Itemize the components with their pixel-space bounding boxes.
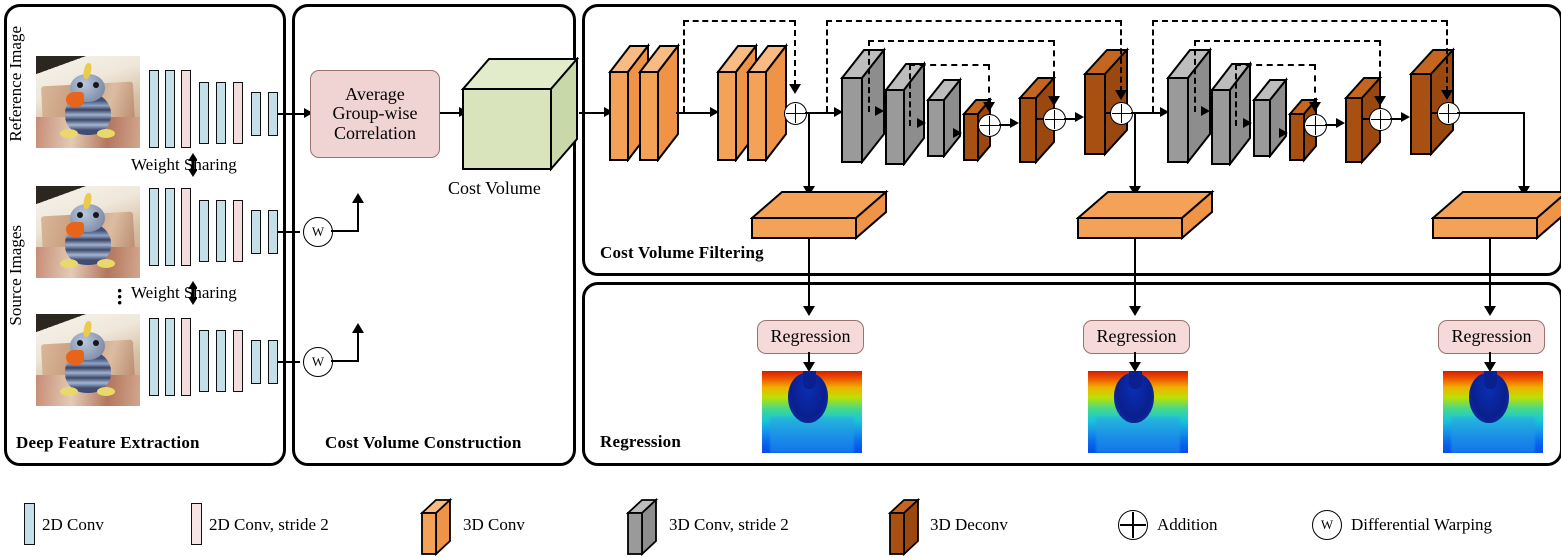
regression-box-3[interactable]: Regression: [1438, 320, 1545, 354]
bar-2d-conv: [149, 70, 159, 148]
regression-box-label: Regression: [771, 327, 851, 346]
output-slab-1: [750, 190, 890, 250]
bar-2d-conv-stride2: [181, 188, 191, 266]
panel-title-regression: Regression: [600, 432, 681, 452]
h1-skip-dashed-v-outer-r: [1120, 20, 1122, 92]
cost-volume-cube: [461, 57, 579, 173]
bar-2d-conv: [199, 82, 209, 144]
h2-arrow-1: [1201, 106, 1210, 116]
bar-2d-conv: [165, 318, 175, 396]
skip-dashed-v-1a: [683, 20, 685, 112]
h2-skip-arrow-outer: [1441, 90, 1453, 100]
correlation-line-1: Average: [333, 85, 418, 104]
panel-title-cost: Cost Volume Construction: [325, 433, 522, 453]
skip-dashed-h-1: [683, 20, 795, 22]
h2-skip-dashed-v-inner-l: [1235, 64, 1237, 126]
warp-arrow-2: [352, 323, 364, 333]
bar-2d-conv: [165, 70, 175, 148]
feature-out-line-ref: [278, 113, 306, 115]
weight-sharing-arrow-2: [187, 281, 197, 305]
skip-dashed-v-1b: [794, 20, 796, 86]
bar-2d-conv: [216, 330, 226, 392]
h2-skip-arrow-inner: [1309, 102, 1321, 112]
cost-volume-caption: Cost Volume: [448, 178, 541, 199]
feature-out-line-src1: [278, 231, 300, 233]
output-slab-3: [1431, 190, 1561, 250]
feature-out-line-srcn: [278, 361, 300, 363]
legend-label-3d-deconv: 3D Deconv: [930, 515, 1008, 535]
bar-2d-conv-stride2: [233, 200, 243, 262]
h1-skip-dashed-v-inner-l: [909, 64, 911, 126]
legend-swatch-addition: [1118, 510, 1148, 540]
slab1-to-regression-line: [808, 238, 810, 310]
legend-label-2d-conv: 2D Conv: [42, 515, 104, 535]
h1-skip-dashed-v-mid-r: [1053, 40, 1055, 98]
warp-line-2a: [331, 360, 359, 362]
h1-arrow-2: [917, 118, 926, 128]
bar-2d-conv: [199, 200, 209, 262]
thumbnail-source-image-n: [36, 314, 140, 406]
h2-skip-dashed-v-outer-l: [1152, 20, 1154, 112]
h2-skip-arrow-mid: [1374, 96, 1386, 106]
warp-line-2b: [357, 333, 359, 362]
h1-skip-dashed-h-inner: [909, 64, 989, 66]
legend-label-3d-conv-stride2: 3D Conv, stride 2: [669, 515, 789, 535]
legend-swatch-2d-conv-stride2: [191, 503, 202, 545]
weight-sharing-label-1: Weight Sharing: [131, 155, 237, 175]
h1-out-down-line: [1134, 112, 1136, 190]
bar-2d-conv: [199, 330, 209, 392]
h2-out-down-line: [1523, 112, 1525, 190]
h2-skip-dashed-h-outer: [1152, 20, 1447, 22]
h1-skip-dashed-v-outer-l: [826, 20, 828, 112]
cube-output-line: [579, 112, 607, 114]
legend-swatch-3d-conv: [420, 497, 460, 557]
average-groupwise-correlation-box[interactable]: Average Group-wise Correlation: [310, 70, 440, 158]
h1-skip-dashed-v-inner-r: [988, 64, 990, 104]
legend-label-2d-conv-stride2: 2D Conv, stride 2: [209, 515, 329, 535]
h2-skip-dashed-h-mid: [1194, 40, 1380, 42]
add1-down-line: [808, 112, 810, 190]
bar-2d-conv: [268, 340, 278, 384]
bar-2d-conv-stride2: [233, 330, 243, 392]
legend-swatch-3d-deconv: [888, 497, 928, 557]
skip-arrow-1: [789, 84, 801, 94]
legend-swatch-2d-conv: [24, 503, 35, 545]
differential-warping-icon-2[interactable]: W: [303, 347, 333, 377]
warping-symbol: W: [312, 224, 324, 240]
addition-icon-h2-1: [1304, 114, 1327, 137]
h2-arrow-2: [1243, 118, 1252, 128]
slab1-to-regression-arrow: [803, 306, 815, 316]
regression-box-2[interactable]: Regression: [1083, 320, 1190, 354]
bar-2d-conv: [268, 92, 278, 136]
output-slab-2: [1076, 190, 1216, 250]
ellipsis-source-images: ···: [116, 288, 123, 306]
h2-skip-dashed-v-outer-r: [1446, 20, 1448, 92]
block-3d-deconv-h1-3: [1083, 44, 1141, 160]
correlation-line-2: Group-wise: [333, 104, 418, 123]
bar-2d-conv: [251, 92, 261, 136]
correlation-line-3: Correlation: [333, 124, 418, 143]
label-reference-image: Reference Image: [6, 26, 26, 142]
h1-skip-arrow-inner: [983, 102, 995, 112]
addition-icon-h1-1: [978, 114, 1001, 137]
slab2-to-regression-line: [1134, 238, 1136, 310]
addition-icon-h1-2: [1043, 108, 1066, 131]
warp-line-1b: [357, 203, 359, 232]
weight-sharing-arrow-1: [187, 153, 197, 177]
slab2-to-regression-arrow: [1129, 306, 1141, 316]
differential-warping-icon-1[interactable]: W: [303, 217, 333, 247]
addition-icon-h1-3: [1110, 102, 1133, 125]
warping-symbol: W: [1321, 517, 1333, 533]
bar-2d-conv: [251, 340, 261, 384]
bar-2d-conv-stride2: [181, 70, 191, 148]
regression-box-label: Regression: [1452, 327, 1532, 346]
h1-skip-dashed-v-mid-l: [868, 40, 870, 112]
h2-out-right-line: [1457, 112, 1525, 114]
legend-label-differential-warping: Differential Warping: [1351, 515, 1492, 535]
bar-2d-conv: [216, 82, 226, 144]
h2-skip-dashed-v-mid-l: [1194, 40, 1196, 112]
warping-symbol: W: [312, 354, 324, 370]
depth-map-1: [762, 371, 862, 453]
bar-2d-conv-stride2: [233, 82, 243, 144]
h1-skip-dashed-h-outer: [826, 20, 1121, 22]
h2-skip-dashed-v-mid-r: [1379, 40, 1381, 98]
panel-regression: [582, 282, 1561, 466]
depth-map-2: [1088, 371, 1188, 453]
h1-skip-arrow-outer: [1115, 90, 1127, 100]
label-source-images: Source Images: [6, 225, 26, 326]
weight-sharing-label-2: Weight Sharing: [131, 283, 237, 303]
addition-icon-h2-2: [1369, 108, 1392, 131]
regression-box-label: Regression: [1097, 327, 1177, 346]
bar-2d-conv-stride2: [181, 318, 191, 396]
bar-2d-conv: [268, 210, 278, 254]
h1-skip-arrow-mid: [1048, 96, 1060, 106]
bar-2d-conv: [149, 318, 159, 396]
legend-swatch-3d-conv-stride2: [626, 497, 666, 557]
depth-map-3: [1443, 371, 1543, 453]
regression-box-1[interactable]: Regression: [757, 320, 864, 354]
h2-skip-dashed-h-inner: [1235, 64, 1315, 66]
bar-2d-conv: [165, 188, 175, 266]
h1-arrow-3: [953, 128, 962, 138]
block-3d-deconv-h2-3: [1409, 44, 1467, 160]
warp-line-1a: [331, 230, 359, 232]
thumbnail-reference-image: [36, 56, 140, 148]
slab3-to-regression-arrow: [1484, 306, 1496, 316]
panel-title-feature: Deep Feature Extraction: [16, 433, 200, 453]
addition-icon-1: [784, 102, 807, 125]
panel-title-filtering: Cost Volume Filtering: [600, 243, 764, 263]
h1-skip-dashed-h-mid: [868, 40, 1054, 42]
bar-2d-conv: [216, 200, 226, 262]
warp-arrow-1: [352, 193, 364, 203]
bar-2d-conv: [251, 210, 261, 254]
legend-label-3d-conv: 3D Conv: [463, 515, 525, 535]
slab3-to-regression-line: [1489, 238, 1491, 310]
thumbnail-source-image-1: [36, 186, 140, 278]
bar-2d-conv: [149, 188, 159, 266]
conv1-to-conv2-line: [676, 112, 712, 114]
h2-arrow-3: [1279, 128, 1288, 138]
legend-label-addition: Addition: [1157, 515, 1217, 535]
legend-swatch-differential-warping: W: [1312, 510, 1342, 540]
h1-arrow-1: [875, 106, 884, 116]
h2-skip-dashed-v-inner-r: [1314, 64, 1316, 104]
